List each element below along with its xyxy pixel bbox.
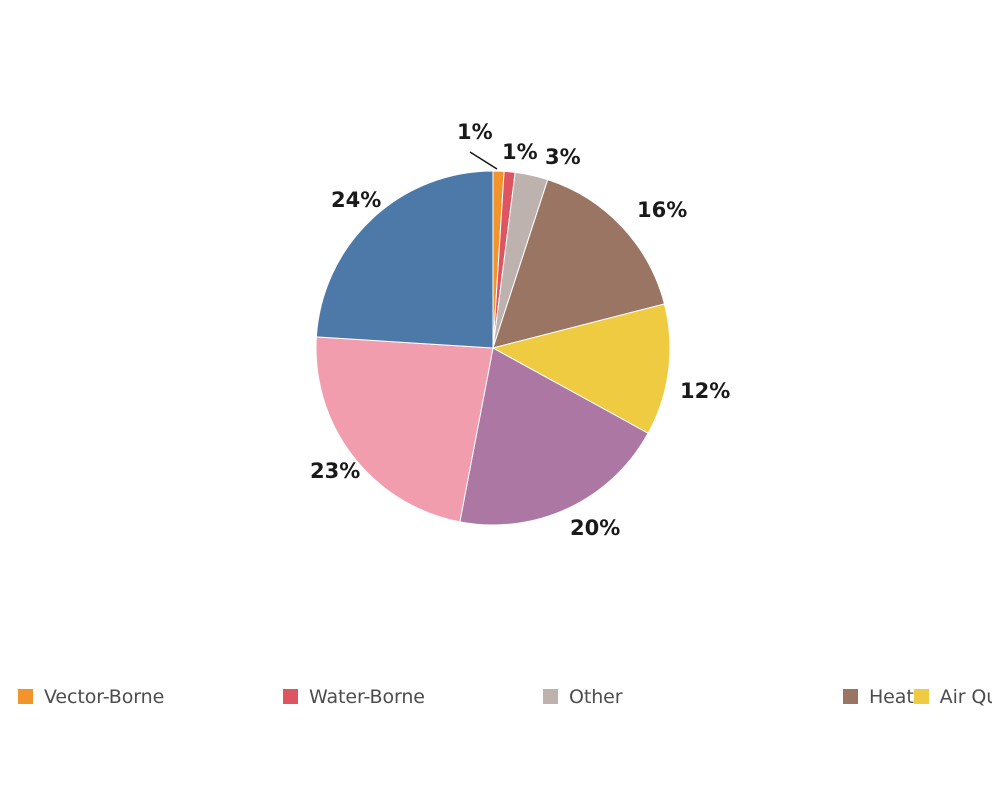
pie-chart-canvas bbox=[0, 0, 992, 794]
pie-label-other: 3% bbox=[545, 147, 581, 168]
legend-label-vector-borne: Vector-Borne bbox=[44, 686, 164, 708]
legend-label-water-borne: Water-Borne bbox=[309, 686, 425, 708]
legend-swatch-other bbox=[543, 689, 558, 704]
pie-label-water-borne: 1% bbox=[502, 142, 538, 163]
legend-item-water-borne[interactable]: Water-Borne bbox=[283, 682, 543, 712]
legend-swatch-air-quality bbox=[914, 689, 929, 704]
pie-label-physical-activity: 24% bbox=[331, 190, 381, 211]
pie-label-heat: 16% bbox=[637, 200, 687, 221]
legend-swatch-water-borne bbox=[283, 689, 298, 704]
legend-swatch-vector-borne bbox=[18, 689, 33, 704]
legend-label-heat: Heat bbox=[869, 686, 914, 708]
pie-label-vector-borne: 1% bbox=[457, 122, 493, 143]
legend-label-other: Other bbox=[569, 686, 622, 708]
legend-swatch-heat bbox=[843, 689, 858, 704]
pie-label-green-space: 23% bbox=[310, 461, 360, 482]
pie-slice-group bbox=[316, 171, 670, 525]
pie-chart-figure: 1% 1% 3% 16% 12% 20% 23% 24% Vector-Born… bbox=[0, 0, 992, 794]
legend-item-vector-borne[interactable]: Vector-Borne bbox=[18, 682, 283, 712]
legend-label-air-quality: Air Quality bbox=[940, 686, 992, 708]
pie-label-air-quality: 12% bbox=[680, 381, 730, 402]
legend-item-air-quality[interactable]: Air Quality bbox=[914, 682, 992, 712]
legend-item-other[interactable]: Other bbox=[543, 682, 843, 712]
pie-label-disasters: 20% bbox=[570, 518, 620, 539]
legend-item-heat[interactable]: Heat bbox=[843, 682, 914, 712]
chart-legend: Vector-BorneWater-BorneOtherHeatAir Qual… bbox=[18, 682, 974, 712]
leader-line-vector-borne bbox=[470, 152, 497, 169]
